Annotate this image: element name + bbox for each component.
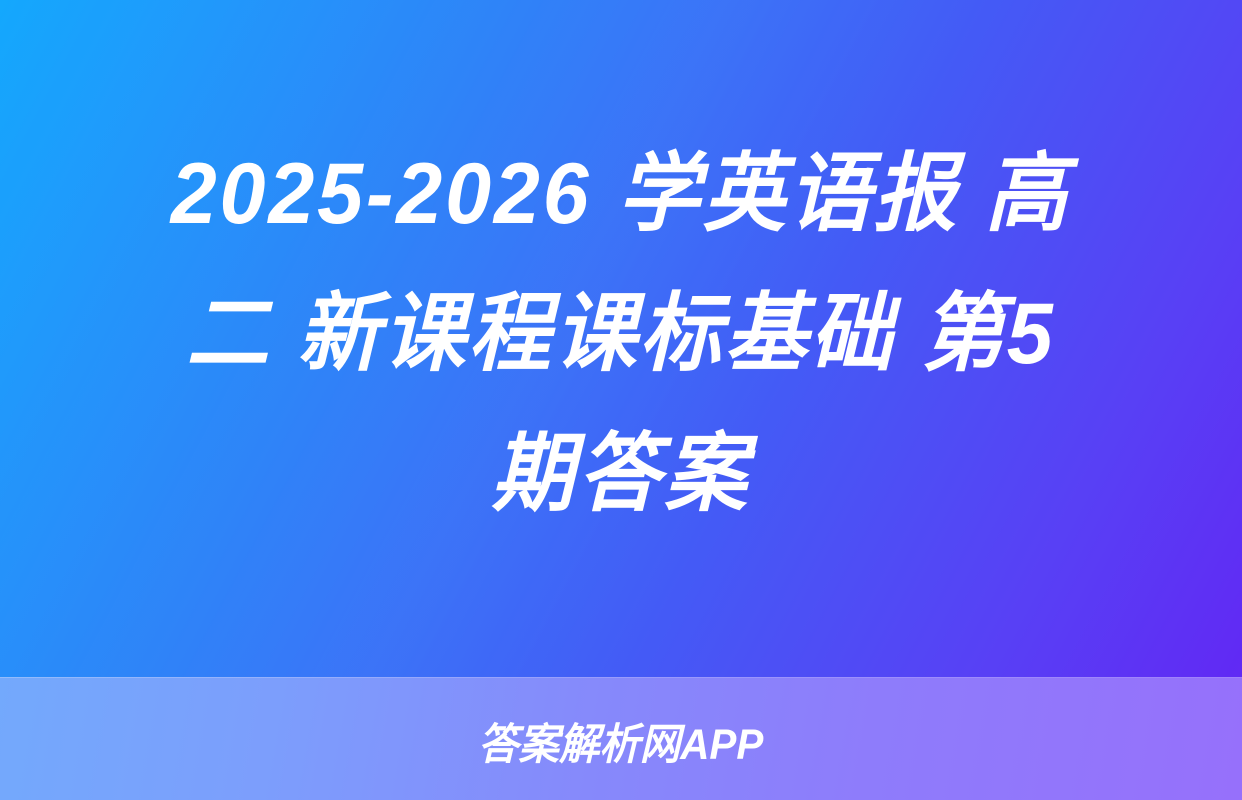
poster-card: 2025-2026 学英语报 高 二 新课程课标基础 第5 期答案 答案解析网A… [0, 0, 1242, 800]
page-title-line-3: 期答案 [491, 404, 750, 544]
page-title-line-2: 二 新课程课标基础 第5 [186, 264, 1055, 404]
title-block: 2025-2026 学英语报 高 二 新课程课标基础 第5 期答案 [0, 0, 1242, 677]
page-title-line-1: 2025-2026 学英语报 高 [171, 124, 1071, 264]
app-brand-label: 答案解析网APP [478, 710, 763, 772]
footer-brand-band: 答案解析网APP [0, 677, 1242, 800]
